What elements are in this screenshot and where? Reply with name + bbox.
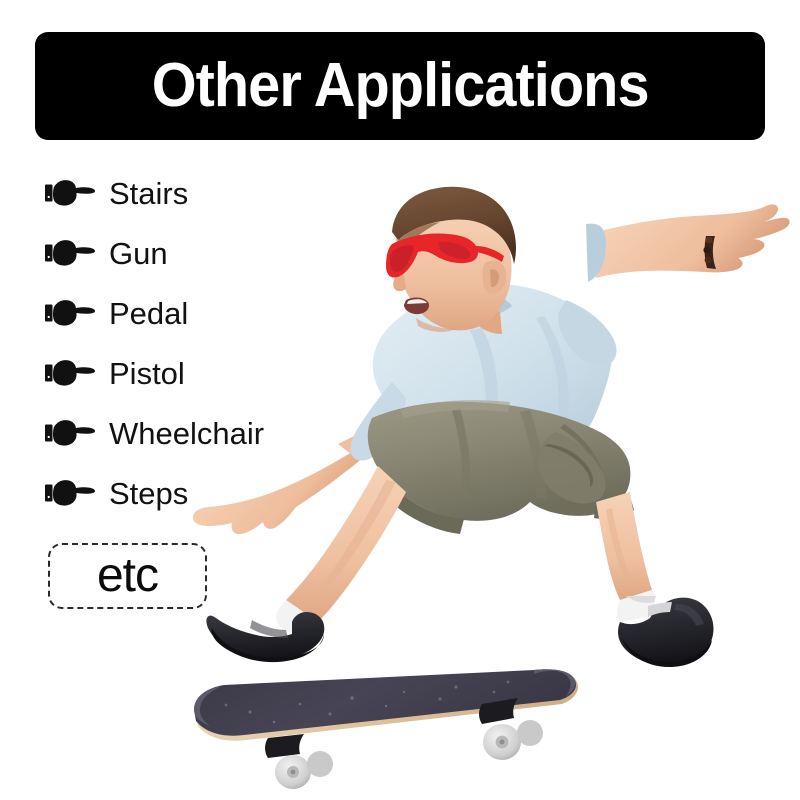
pointing-hand-right-icon bbox=[44, 296, 96, 330]
etc-badge: etc bbox=[48, 543, 207, 609]
list-item: Stairs bbox=[44, 163, 264, 223]
list-item-label: Gun bbox=[109, 238, 168, 269]
head bbox=[386, 187, 516, 334]
right-leg bbox=[596, 492, 713, 667]
title-banner: Other Applications bbox=[35, 32, 765, 140]
list-item: Steps bbox=[44, 463, 264, 523]
list-item: Pedal bbox=[44, 283, 264, 343]
page-title: Other Applications bbox=[152, 55, 649, 117]
cargo-shorts bbox=[368, 400, 634, 534]
front-truck bbox=[265, 734, 333, 789]
pointing-hand-right-icon bbox=[44, 236, 96, 270]
list-item: Pistol bbox=[44, 343, 264, 403]
pointing-hand-right-icon bbox=[44, 176, 96, 210]
list-item-label: Pedal bbox=[109, 298, 188, 329]
list-item: Wheelchair bbox=[44, 403, 264, 463]
pointing-hand-right-icon bbox=[44, 476, 96, 510]
list-item-label: Wheelchair bbox=[109, 418, 264, 449]
skateboard bbox=[194, 669, 578, 789]
applications-list: Stairs Gun Pedal bbox=[44, 163, 264, 523]
pointing-hand-right-icon bbox=[44, 416, 96, 450]
list-item-label: Stairs bbox=[109, 178, 188, 209]
list-item-label: Pistol bbox=[109, 358, 185, 389]
etc-label: etc bbox=[97, 552, 158, 600]
pointing-hand-right-icon bbox=[44, 356, 96, 390]
list-item-label: Steps bbox=[109, 478, 188, 509]
rear-truck bbox=[479, 698, 543, 760]
right-arm bbox=[586, 204, 790, 282]
poster-canvas: Other Applications Stairs Gun bbox=[0, 0, 800, 800]
list-item: Gun bbox=[44, 223, 264, 283]
